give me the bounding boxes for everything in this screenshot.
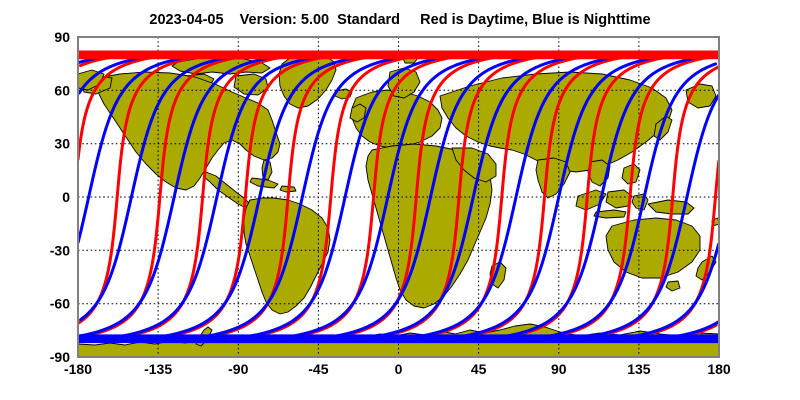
y-axis-tick-labels: -90-60-300306090 bbox=[50, 29, 70, 365]
x-tick-135: 135 bbox=[627, 361, 651, 377]
y-tick-30: 30 bbox=[54, 136, 70, 152]
y-tick-60: 60 bbox=[54, 82, 70, 98]
y-tick-90: 90 bbox=[54, 29, 70, 45]
x-tick--135: -135 bbox=[144, 361, 172, 377]
x-axis-tick-labels: -180-135-90-4504590135180 bbox=[64, 361, 731, 377]
y-tick-0: 0 bbox=[62, 189, 70, 205]
x-tick-45: 45 bbox=[471, 361, 487, 377]
x-tick-0: 0 bbox=[395, 361, 403, 377]
chart-page: 2023-04-05 Version: 5.00 Standard Red is… bbox=[0, 0, 800, 400]
x-tick--45: -45 bbox=[308, 361, 328, 377]
x-tick-90: 90 bbox=[551, 361, 567, 377]
y-tick--60: -60 bbox=[50, 296, 70, 312]
ground-track-plot: -180-135-90-4504590135180 -90-60-3003060… bbox=[0, 0, 800, 400]
x-tick-180: 180 bbox=[707, 361, 731, 377]
y-tick--30: -30 bbox=[50, 242, 70, 258]
x-tick--90: -90 bbox=[228, 361, 248, 377]
y-tick--90: -90 bbox=[50, 349, 70, 365]
